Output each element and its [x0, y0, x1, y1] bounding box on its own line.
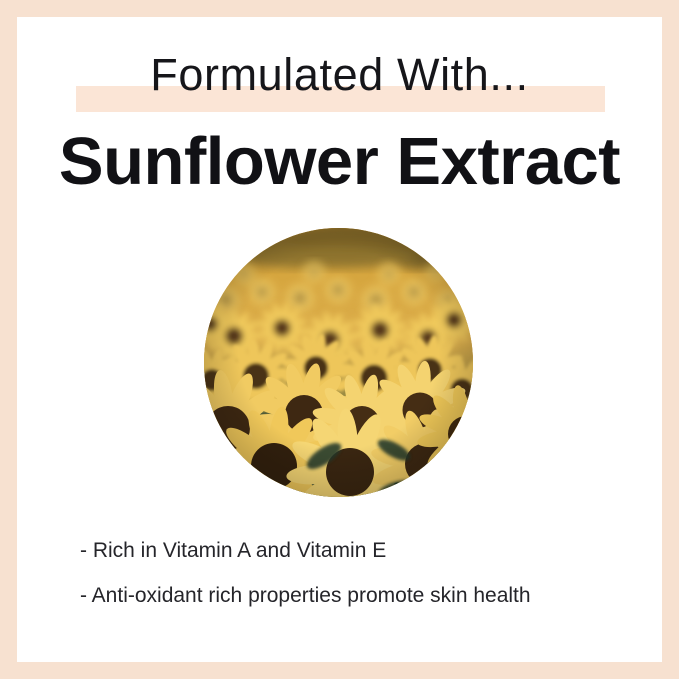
benefits-list: - Rich in Vitamin A and Vitamin E - Anti…	[80, 538, 640, 608]
list-item: - Rich in Vitamin A and Vitamin E	[80, 538, 640, 563]
sunflower-field-photo	[204, 228, 473, 497]
headline-eyebrow: Formulated With...	[0, 52, 679, 97]
page-title: Sunflower Extract	[0, 128, 679, 195]
frame-border-left	[0, 0, 17, 679]
product-ingredient-card: Formulated With... Sunflower Extract	[0, 0, 679, 679]
frame-border-right	[662, 0, 679, 679]
sunflower-illustration	[204, 228, 473, 497]
frame-border-bottom	[0, 662, 679, 679]
list-item: - Anti-oxidant rich properties promote s…	[80, 583, 640, 608]
frame-border-top	[0, 0, 679, 17]
